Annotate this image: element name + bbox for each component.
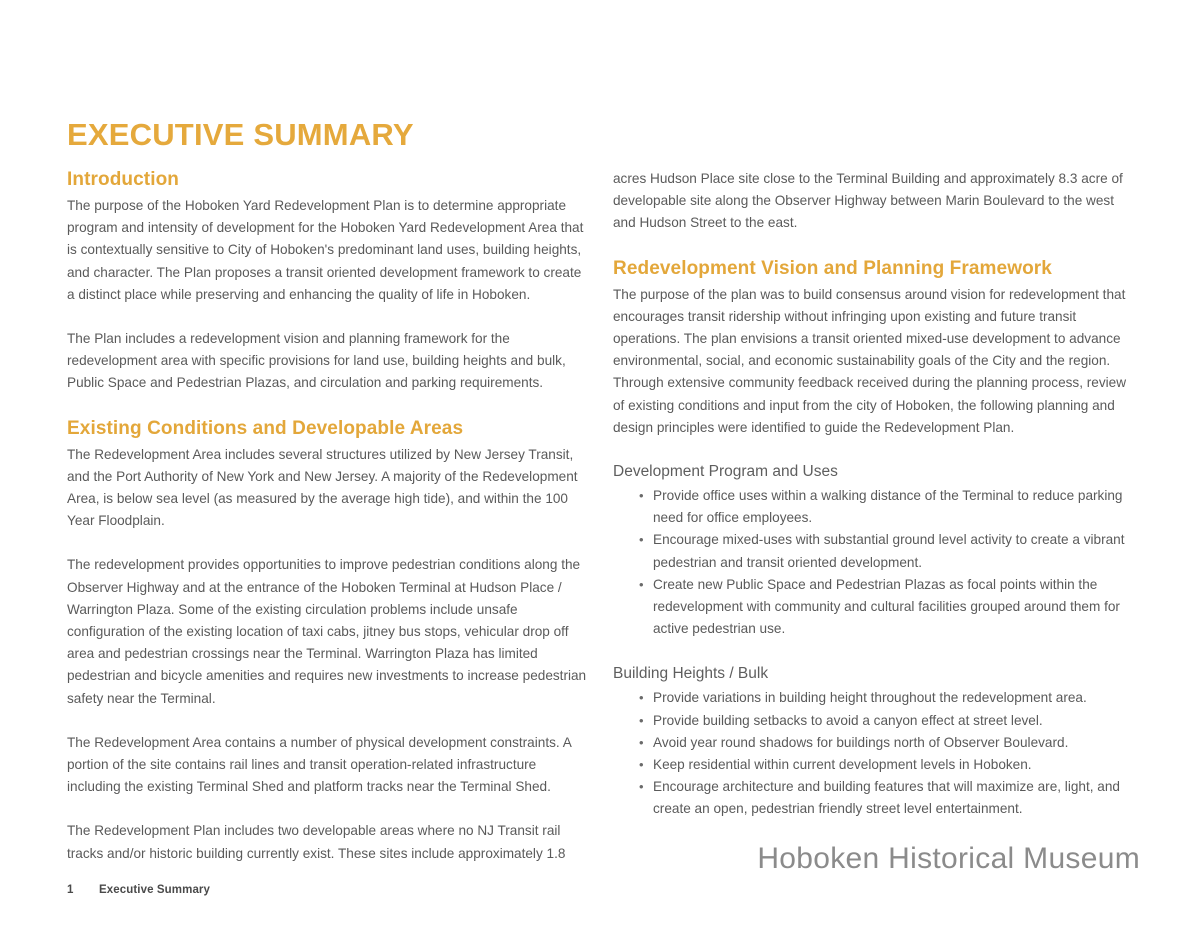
footer-section-label: Executive Summary — [99, 884, 210, 896]
page-footer: 1Executive Summary — [67, 884, 210, 896]
paragraph-existing-3: The Redevelopment Area contains a number… — [67, 732, 587, 799]
document-page: EXECUTIVE SUMMARY Introduction The purpo… — [0, 0, 1200, 927]
list-item: Avoid year round shadows for buildings n… — [639, 732, 1128, 754]
list-item: Keep residential within current developm… — [639, 754, 1128, 776]
list-item: Encourage mixed-uses with substantial gr… — [639, 529, 1128, 573]
paragraph-vision: The purpose of the plan was to build con… — [613, 284, 1128, 439]
paragraph-existing-2: The redevelopment provides opportunities… — [67, 554, 587, 709]
heading-development-program: Development Program and Uses — [613, 461, 1128, 483]
list-item: Provide office uses within a walking dis… — [639, 485, 1128, 529]
list-item: Provide building setbacks to avoid a can… — [639, 710, 1128, 732]
watermark-hoboken-historical-museum: Hoboken Historical Museum — [757, 842, 1140, 876]
heading-existing-conditions: Existing Conditions and Developable Area… — [67, 417, 587, 441]
footer-page-number: 1 — [67, 884, 99, 896]
heading-introduction: Introduction — [67, 168, 587, 192]
page-title: EXECUTIVE SUMMARY — [67, 116, 414, 154]
paragraph-continuation: acres Hudson Place site close to the Ter… — [613, 168, 1128, 235]
heading-building-heights: Building Heights / Bulk — [613, 663, 1128, 685]
paragraph-intro-1: The purpose of the Hoboken Yard Redevelo… — [67, 195, 587, 306]
left-column: Introduction The purpose of the Hoboken … — [67, 168, 587, 865]
heading-redevelopment-vision: Redevelopment Vision and Planning Framew… — [613, 257, 1128, 281]
list-development-program: Provide office uses within a walking dis… — [613, 485, 1128, 640]
list-building-heights: Provide variations in building height th… — [613, 687, 1128, 820]
paragraph-existing-4: The Redevelopment Plan includes two deve… — [67, 820, 587, 864]
list-item: Create new Public Space and Pedestrian P… — [639, 574, 1128, 641]
right-column: acres Hudson Place site close to the Ter… — [613, 168, 1128, 821]
list-item: Provide variations in building height th… — [639, 687, 1128, 709]
paragraph-existing-1: The Redevelopment Area includes several … — [67, 444, 587, 533]
list-item: Encourage architecture and building feat… — [639, 776, 1128, 820]
paragraph-intro-2: The Plan includes a redevelopment vision… — [67, 328, 587, 395]
